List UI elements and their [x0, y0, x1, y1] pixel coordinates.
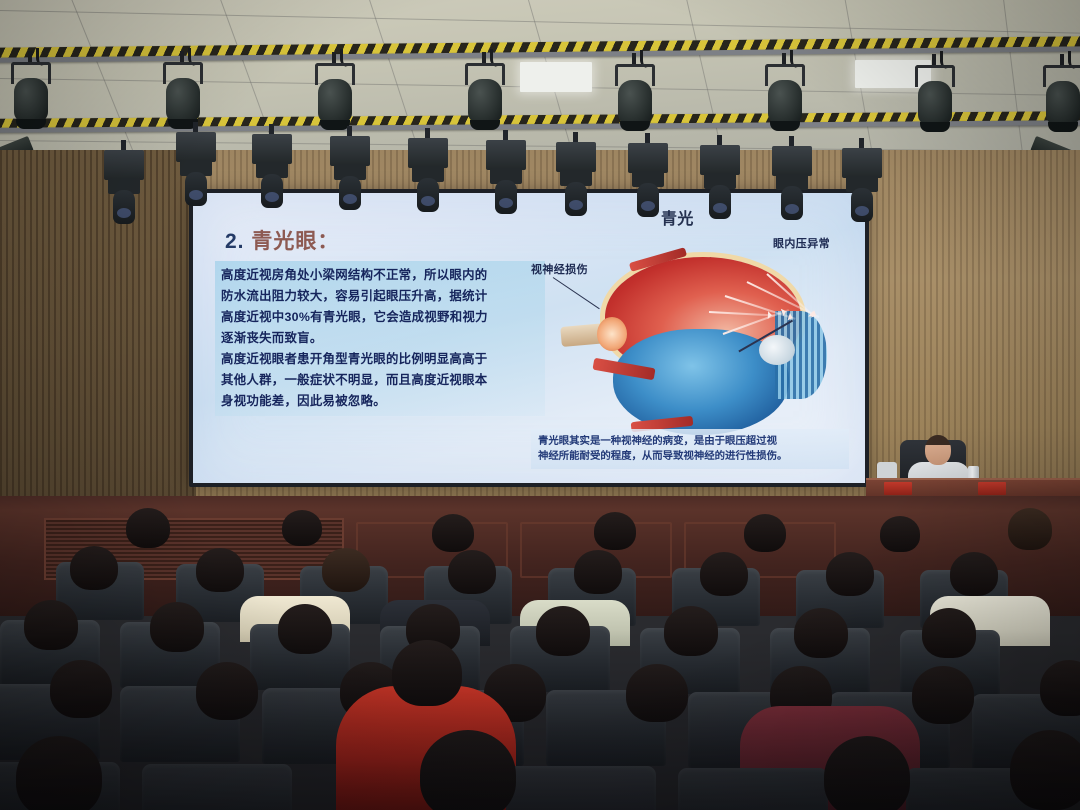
projection-screen: 2. 青光眼： 高度近视房角处小梁网结构不正常，所以眼内的 防水流出阻力较大，容… [193, 193, 865, 483]
stage-light-moving-head [486, 140, 526, 216]
audience-head [1010, 730, 1080, 810]
stage-light-moving-head [176, 132, 216, 208]
audience-head [950, 552, 998, 596]
auditorium-seat [142, 764, 292, 810]
slide-body-line: 高度近视眼者患开角型青光眼的比例明显高高于 [221, 349, 539, 370]
audience-area [0, 500, 1080, 810]
eye-lens [759, 335, 795, 365]
audience-head [278, 604, 332, 654]
audience-head [448, 550, 496, 594]
audience-head [196, 662, 258, 720]
slide-body-line: 身视功能差，因此易被忽略。 [221, 391, 539, 412]
auditorium-seat [506, 766, 656, 810]
audience-head [536, 606, 590, 656]
audience-head [282, 510, 322, 546]
stage-light-par [612, 64, 658, 128]
slide-caption-line: 青光眼其实是一种视神经的病变，是由于眼压超过视 [538, 434, 842, 449]
audience-head [126, 508, 170, 548]
desk-nameplate [884, 482, 912, 495]
optic-disc [597, 317, 627, 351]
stage-light-moving-head [842, 148, 882, 224]
stage-light-moving-head [772, 146, 812, 222]
slide-title-number: 2. [225, 230, 245, 253]
stage-light-moving-head [408, 138, 448, 214]
audience-head [50, 660, 112, 718]
eye-cross-section-diagram [583, 251, 833, 441]
slide-caption: 青光眼其实是一种视神经的病变，是由于眼压超过视 神经所能耐受的程度，从而导致视神… [531, 429, 849, 469]
audience-head [196, 548, 244, 592]
audience-head [574, 550, 622, 594]
audience-head [922, 608, 976, 658]
slide-caption-line: 神经所能耐受的程度，从而导致视神经的进行性损伤。 [538, 449, 842, 464]
stage-light-par [160, 62, 206, 126]
presenter-head [925, 435, 951, 465]
stage-light-moving-head [252, 134, 292, 210]
audience-head [826, 552, 874, 596]
desk-nameplate [978, 482, 1006, 495]
ceiling-panel-light [520, 62, 592, 92]
audience-head [150, 602, 204, 652]
slide-body-textbox: 高度近视房角处小梁网结构不正常，所以眼内的 防水流出阻力较大，容易引起眼压升高，… [215, 261, 545, 416]
slide-body-line: 高度近视中30%有青光眼，它会造成视野和视力 [221, 307, 539, 328]
audience-head [626, 664, 688, 722]
stage-light-par [462, 63, 508, 127]
slide-body-line: 逐渐丧失而致盲。 [221, 328, 539, 349]
stage-light-par [762, 64, 808, 128]
audience-head [912, 666, 974, 724]
stage-light-par [8, 62, 54, 126]
audience-head [24, 600, 78, 650]
stage-light-par [312, 63, 358, 127]
diagram-label-intraocular-pressure: 眼内压异常 [773, 235, 830, 251]
audience-head [70, 546, 118, 590]
slide-title-text: 青光眼： [251, 230, 339, 253]
audience-head [1040, 660, 1080, 716]
diagram-label-optic-nerve-damage: 视神经损伤 [531, 261, 588, 277]
stage-wall-left-panel [0, 150, 196, 520]
audience-head [744, 514, 786, 552]
audience-head [664, 606, 718, 656]
stage-light-par [1040, 65, 1080, 129]
stage-light-moving-head [330, 136, 370, 212]
stage-light-moving-head [556, 142, 596, 218]
audience-head [392, 640, 462, 706]
auditorium-seat [678, 768, 828, 810]
auditorium-photo: 2. 青光眼： 高度近视房角处小梁网结构不正常，所以眼内的 防水流出阻力较大，容… [0, 0, 1080, 810]
stage-light-moving-head [628, 143, 668, 219]
slide-body-line: 高度近视房角处小梁网结构不正常，所以眼内的 [221, 265, 539, 286]
slide-body-line: 防水流出阻力较大，容易引起眼压升高，据统计 [221, 286, 539, 307]
audience-head [420, 730, 516, 810]
audience-head [594, 512, 636, 550]
audience-head [1008, 508, 1052, 550]
audience-head [880, 516, 920, 552]
slide-body-line: 其他人群，一般症状不明显，而且高度近视眼本 [221, 370, 539, 391]
audience-head [700, 552, 748, 596]
audience-head [824, 736, 910, 810]
stage-light-moving-head [104, 150, 144, 226]
stage-light-par [912, 65, 958, 129]
audience-head [432, 514, 474, 552]
stage-light-moving-head [700, 145, 740, 221]
audience-head [16, 736, 102, 810]
audience-head [794, 608, 848, 658]
audience-head [322, 548, 370, 592]
slide-title: 2. 青光眼： [225, 225, 339, 255]
